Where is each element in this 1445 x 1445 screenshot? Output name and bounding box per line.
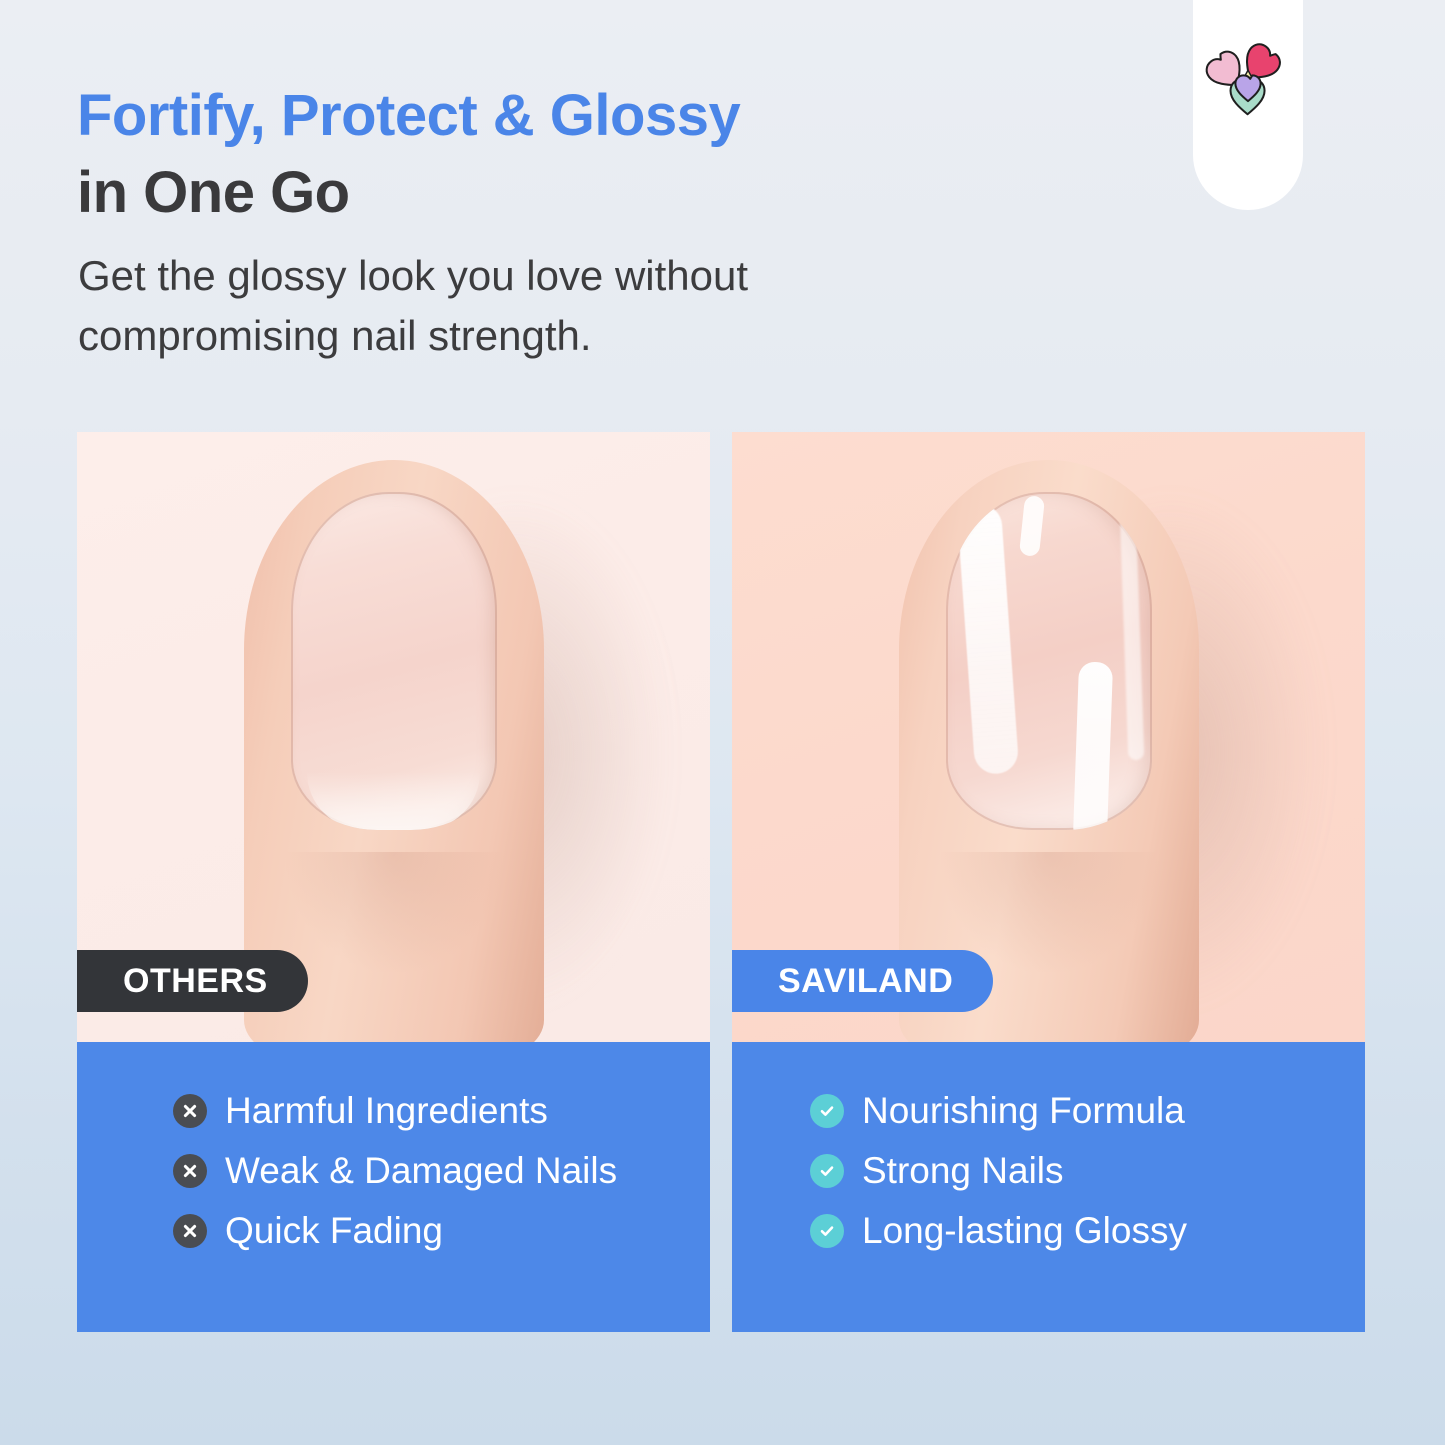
headline-line-2: in One Go	[77, 155, 997, 232]
brand-logo-container	[1193, 0, 1303, 210]
cross-icon	[173, 1094, 207, 1128]
feature-label: Nourishing Formula	[862, 1090, 1185, 1132]
list-item: Quick Fading	[173, 1210, 710, 1252]
comparison-section: OTHERS Harmful Ingredients Weak & Damage…	[77, 432, 1365, 1332]
list-item: Weak & Damaged Nails	[173, 1150, 710, 1192]
page-subtitle: Get the glossy look you love without com…	[78, 246, 958, 367]
gloss-highlight	[1018, 495, 1044, 557]
check-icon	[810, 1154, 844, 1188]
headline-line-1: Fortify, Protect & Glossy	[77, 78, 997, 155]
feature-panel-others: Harmful Ingredients Weak & Damaged Nails…	[77, 1042, 710, 1332]
gloss-highlight	[1072, 661, 1112, 830]
gloss-highlight	[1119, 510, 1144, 760]
feature-label: Long-lasting Glossy	[862, 1210, 1187, 1252]
heart-flower-logo-icon	[1202, 39, 1294, 131]
feature-label: Harmful Ingredients	[225, 1090, 548, 1132]
nail-glossy	[946, 492, 1152, 830]
list-item: Harmful Ingredients	[173, 1090, 710, 1132]
feature-list-others: Harmful Ingredients Weak & Damaged Nails…	[77, 1090, 710, 1252]
cross-icon	[173, 1214, 207, 1248]
feature-panel-saviland: Nourishing Formula Strong Nails Long-las…	[732, 1042, 1365, 1332]
list-item: Nourishing Formula	[810, 1090, 1365, 1132]
feature-label: Quick Fading	[225, 1210, 443, 1252]
comparison-column-saviland: SAVILAND Nourishing Formula Strong Nails	[732, 432, 1365, 1332]
bare-matte-nail-photo: OTHERS	[77, 432, 710, 1042]
glossy-coated-nail-photo: SAVILAND	[732, 432, 1365, 1042]
knuckle-shading	[286, 852, 502, 972]
badge-saviland: SAVILAND	[732, 950, 993, 1012]
list-item: Strong Nails	[810, 1150, 1365, 1192]
feature-list-saviland: Nourishing Formula Strong Nails Long-las…	[732, 1090, 1365, 1252]
check-icon	[810, 1214, 844, 1248]
comparison-column-others: OTHERS Harmful Ingredients Weak & Damage…	[77, 432, 710, 1332]
check-icon	[810, 1094, 844, 1128]
page-title: Fortify, Protect & Glossy in One Go	[77, 78, 997, 231]
gloss-highlight	[956, 503, 1019, 775]
feature-label: Strong Nails	[862, 1150, 1064, 1192]
nail-matte	[291, 492, 497, 830]
badge-others: OTHERS	[77, 950, 308, 1012]
feature-label: Weak & Damaged Nails	[225, 1150, 617, 1192]
list-item: Long-lasting Glossy	[810, 1210, 1365, 1252]
cross-icon	[173, 1154, 207, 1188]
